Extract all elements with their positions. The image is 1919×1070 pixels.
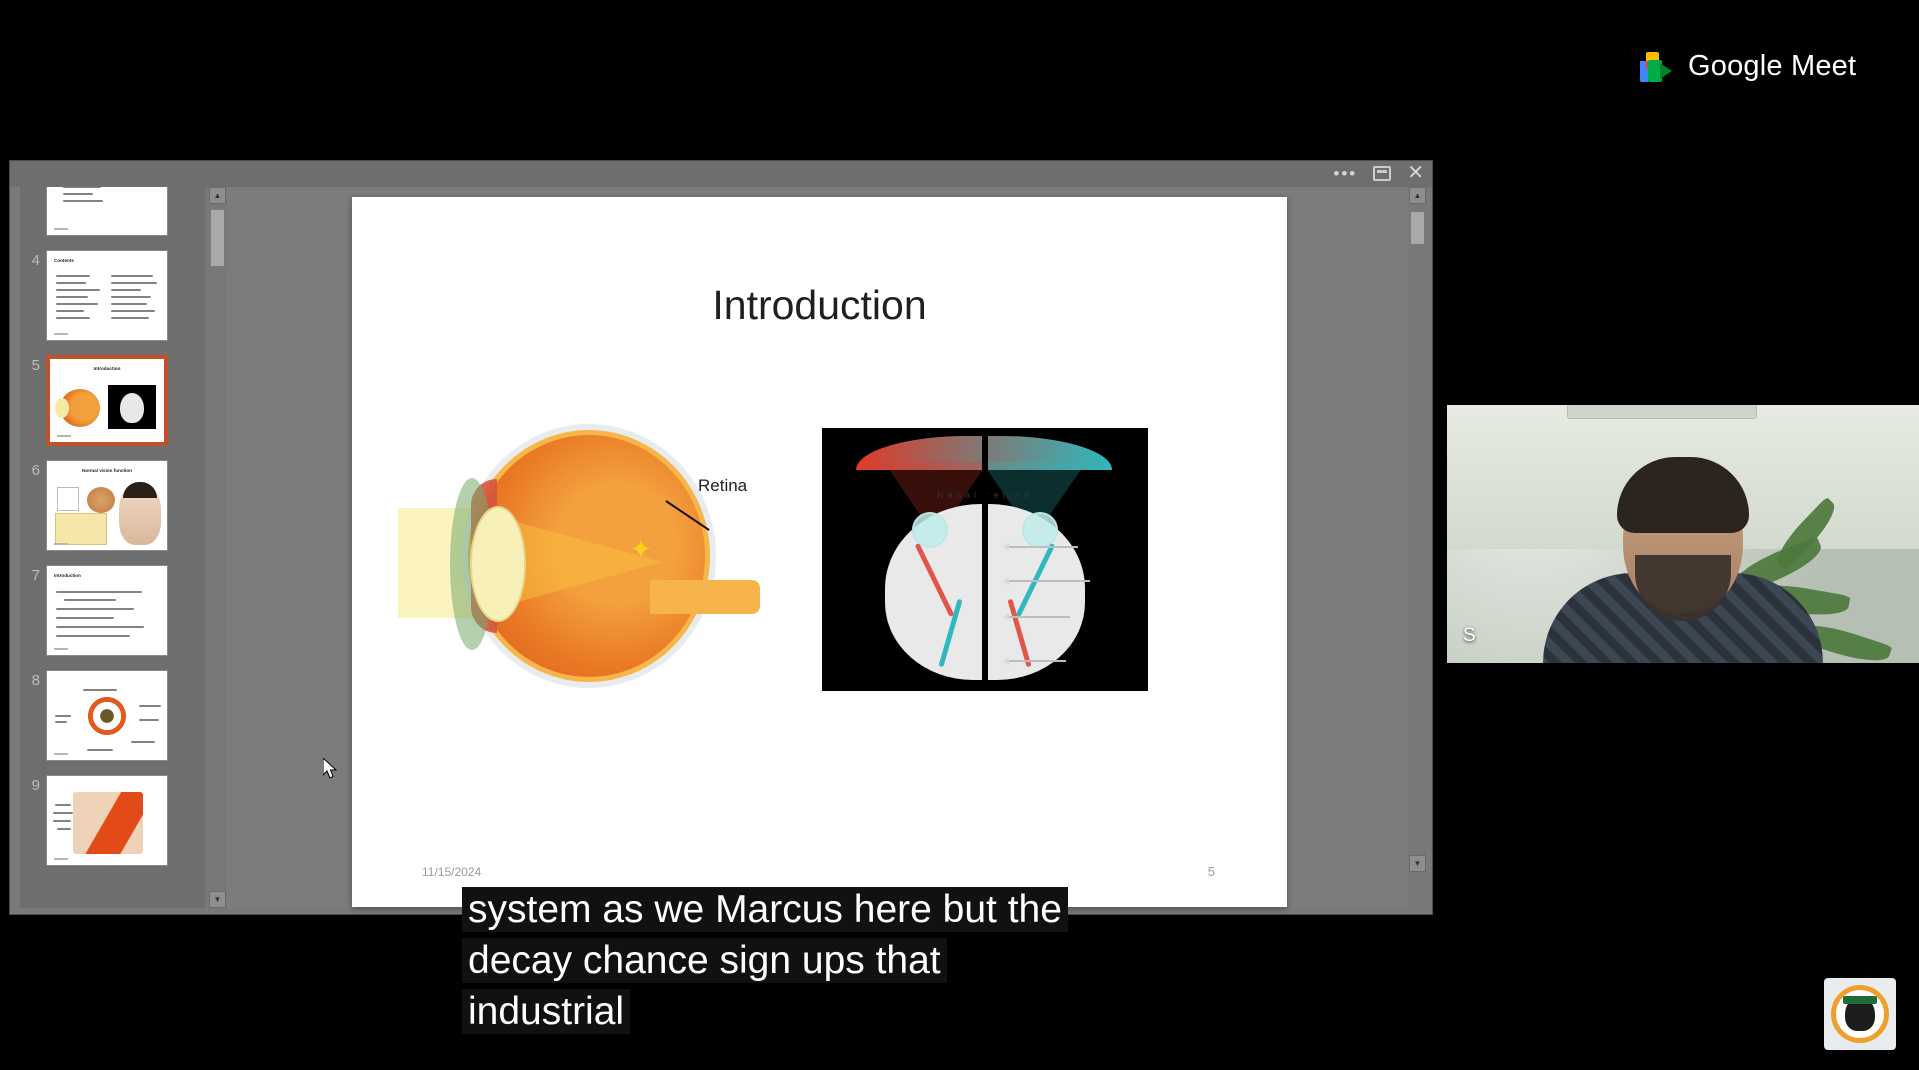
google-meet-brand: Google Meet <box>1640 50 1856 83</box>
list-item[interactable]: 7 Introduction <box>20 565 205 656</box>
thumb-face-anatomy <box>73 792 143 854</box>
thumb-number: 5 <box>20 355 46 374</box>
list-item[interactable]: 9 <box>20 775 205 866</box>
thumb-number: 9 <box>20 775 46 794</box>
thumb-title: Contents <box>54 258 74 263</box>
scroll-down-icon[interactable]: ▼ <box>1409 855 1426 872</box>
thumb-snellen-chart <box>57 487 79 511</box>
eye-cross-section-diagram: ✦ Retina <box>398 412 758 702</box>
slide-thumbnail-pane[interactable]: Why this topic? 4 Contents <box>20 187 205 908</box>
google-meet-logo <box>1640 52 1674 82</box>
scroll-up-icon[interactable]: ▲ <box>209 187 226 204</box>
list-item[interactable]: Why this topic? <box>20 187 205 236</box>
thumb-iris-diagram <box>85 695 129 737</box>
live-captions: system as we Marcus here but the decay c… <box>462 885 1222 1038</box>
slide-stage: Introduction ✦ Retina Na <box>227 187 1408 908</box>
institution-badge-icon <box>1824 978 1896 1050</box>
restore-window-icon[interactable] <box>1373 166 1391 181</box>
slide-stage-scrollbar[interactable]: ▲ ▼ <box>1409 187 1426 908</box>
thumbnail-slide-9[interactable] <box>46 775 168 866</box>
participant-initial: S <box>1463 625 1476 647</box>
scroll-down-icon[interactable]: ▼ <box>209 891 226 908</box>
list-item[interactable]: 5 Introduction <box>20 355 205 446</box>
shared-presentation-window: ••• ✕ Why this topic? 4 <box>9 160 1433 915</box>
more-options-icon[interactable]: ••• <box>1333 165 1357 182</box>
caption-line: industrial <box>462 989 630 1034</box>
caption-line: system as we Marcus here but the <box>462 887 1068 932</box>
thumb-title: Introduction <box>54 573 81 578</box>
meet-screen-share-view: Google Meet S ••• ✕ <box>0 0 1919 1070</box>
thumb-number: 8 <box>20 670 46 689</box>
visual-pathway-brain-diagram: Nasal retina <box>822 428 1148 691</box>
caption-line: decay chance sign ups that <box>462 938 947 983</box>
window-titlebar: ••• ✕ <box>10 161 1432 187</box>
thumb-title: Introduction <box>50 366 164 371</box>
thumb-circle-figure <box>87 487 115 513</box>
list-item[interactable]: 4 Contents <box>20 250 205 341</box>
scrollbar-thumb[interactable] <box>1410 211 1425 245</box>
thumb-number: 6 <box>20 460 46 479</box>
brand-label: Google Meet <box>1688 50 1856 83</box>
thumb-brain-figure <box>108 385 156 429</box>
slide-number: 5 <box>1208 864 1215 879</box>
thumbnail-slide-4[interactable]: Contents <box>46 250 168 341</box>
mouse-cursor <box>323 758 337 779</box>
fovea-star-icon: ✦ <box>630 534 652 565</box>
slide-date: 11/15/2024 <box>422 865 481 879</box>
list-item[interactable]: 6 Normal vision function <box>20 460 205 551</box>
thumb-number: 4 <box>20 250 46 269</box>
list-item[interactable]: 8 <box>20 670 205 761</box>
close-icon[interactable]: ✕ <box>1407 163 1424 183</box>
thumbnail-slide-6[interactable]: Normal vision function <box>46 460 168 551</box>
thumbnail-slide-7[interactable]: Introduction <box>46 565 168 656</box>
thumb-title: Normal vision function <box>47 468 167 473</box>
scrollbar-thumb[interactable] <box>210 209 225 267</box>
slide-title: Introduction <box>352 282 1287 329</box>
thumb-face-figure <box>119 485 161 545</box>
thumb-yellow-diagram <box>55 513 107 545</box>
thumbnail-slide-8[interactable] <box>46 670 168 761</box>
air-conditioner <box>1567 405 1757 419</box>
thumbnail-pane-scrollbar[interactable]: ▲ ▼ <box>209 187 226 908</box>
current-slide: Introduction ✦ Retina Na <box>352 197 1287 907</box>
participant-video-tile[interactable]: S <box>1447 405 1919 663</box>
thumb-eye-figure <box>60 389 100 427</box>
thumbnail-slide-3[interactable]: Why this topic? <box>46 187 168 236</box>
scroll-up-icon[interactable]: ▲ <box>1409 187 1426 204</box>
retina-label: Retina <box>698 476 747 496</box>
thumbnail-slide-5-selected[interactable]: Introduction <box>46 355 168 446</box>
thumb-number: 7 <box>20 565 46 584</box>
